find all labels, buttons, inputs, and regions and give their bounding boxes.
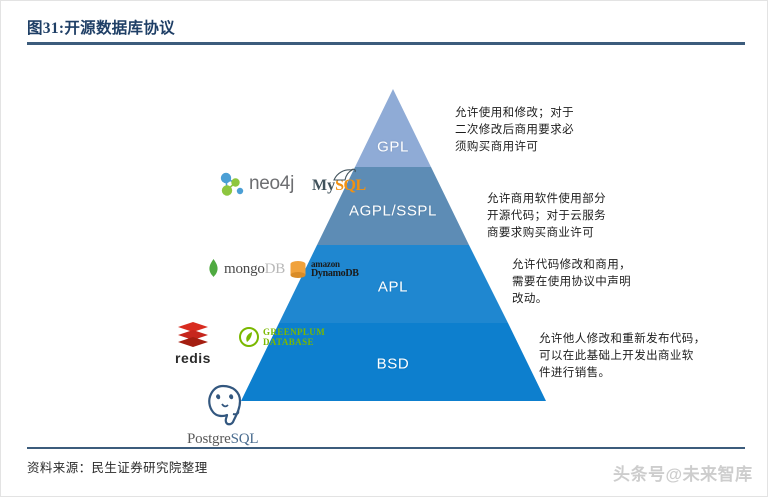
- logo-postgresql: PostgreSQL: [187, 384, 258, 448]
- annotation-bsd: 允许他人修改和重新发布代码， 可以在此基础上开发出商业软 件进行销售。: [539, 331, 706, 382]
- tier-label-gpl: GPL: [377, 139, 409, 156]
- tier-label-apl: APL: [378, 279, 408, 296]
- figure-header: 图31:开源数据库协议: [27, 19, 743, 45]
- mysql-dolphin-icon: [330, 166, 360, 184]
- source-note: 资料来源：民生证券研究院整理: [27, 457, 208, 476]
- annotation-agpl: 允许商用软件使用部分 开源代码；对于云服务 商要求购买商业许可: [487, 191, 606, 242]
- neo4j-wordmark: neo4j: [249, 173, 294, 195]
- tier-label-agpl: AGPL/SSPL: [349, 203, 437, 220]
- redis-wordmark: redis: [175, 350, 211, 366]
- logo-dynamodb: amazon DynamoDB: [289, 260, 359, 280]
- watermark: 头条号@未来智库: [613, 460, 763, 490]
- logo-mysql: MySQL: [312, 177, 366, 195]
- mongodb-wordmark-db: DB: [265, 261, 285, 277]
- redis-stack-icon: [176, 321, 210, 349]
- pyramid-graphic: [27, 59, 745, 443]
- logo-neo4j: neo4j: [219, 171, 294, 197]
- mongodb-leaf-icon: [207, 259, 220, 279]
- dynamodb-wordmark-name: DynamoDB: [311, 269, 359, 278]
- title-divider: [27, 42, 745, 45]
- logo-greenplum: GREENPLUM DATABASE: [239, 327, 325, 347]
- annotation-gpl: 允许使用和修改；对于 二次修改后商用要求必 须购买商用许可: [455, 105, 574, 156]
- figure-page: 图31:开源数据库协议 GPL AGPL/SSPL APL BSD 允许使用和修…: [0, 0, 768, 497]
- footer-divider: [27, 447, 745, 449]
- mongodb-wordmark-mongo: mongo: [224, 261, 265, 277]
- logo-redis: redis: [175, 321, 211, 366]
- postgresql-elephant-icon: [200, 384, 246, 428]
- page-title: 图31:开源数据库协议: [27, 19, 743, 39]
- postgresql-wordmark-sql: SQL: [231, 431, 259, 447]
- postgresql-wordmark-postgre: Postgre: [187, 431, 231, 447]
- neo4j-icon: [219, 171, 245, 197]
- greenplum-wordmark-line1: GREENPLUM: [263, 327, 325, 337]
- logo-mongodb: mongoDB: [207, 259, 285, 279]
- greenplum-icon: [239, 327, 259, 347]
- pyramid-chart: GPL AGPL/SSPL APL BSD 允许使用和修改；对于 二次修改后商用…: [27, 59, 745, 443]
- tier-label-bsd: BSD: [377, 356, 410, 373]
- annotation-apl: 允许代码修改和商用， 需要在使用协议中声明 改动。: [512, 257, 631, 308]
- greenplum-wordmark-line2: DATABASE: [263, 337, 325, 347]
- dynamodb-cylinder-icon: [289, 260, 307, 280]
